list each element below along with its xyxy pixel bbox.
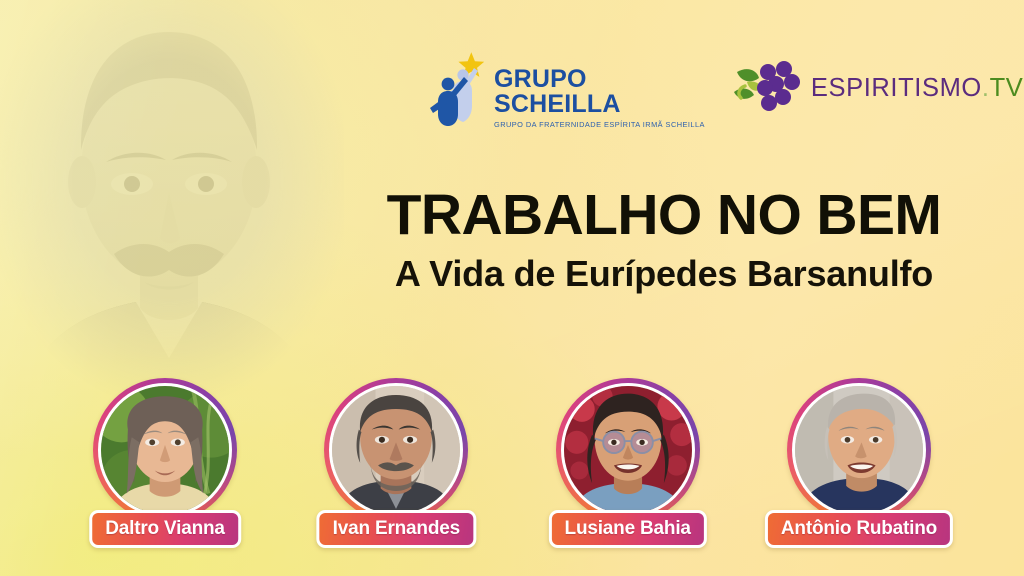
avatar bbox=[98, 383, 232, 517]
scheilla-tagline: GRUPO DA FRATERNIDADE ESPÍRITA IRMÃ SCHE… bbox=[494, 120, 705, 129]
espiritismo-dot: . bbox=[982, 74, 990, 102]
speaker-card[interactable]: Ivan Ernandes bbox=[287, 378, 505, 558]
grape-cluster-icon bbox=[731, 58, 803, 121]
page-title: TRABALHO NO BEM bbox=[330, 186, 998, 244]
title-block: TRABALHO NO BEM A Vida de Eurípedes Bars… bbox=[330, 186, 998, 293]
avatar bbox=[329, 383, 463, 517]
page-subtitle: A Vida de Eurípedes Barsanulfo bbox=[330, 255, 998, 293]
avatar-ring bbox=[324, 378, 468, 522]
speaker-name: Antônio Rubatino bbox=[768, 513, 950, 545]
speaker-row: Daltro Vianna bbox=[56, 378, 968, 558]
poster-canvas: GRUPO SCHEILLA GRUPO DA FRATERNIDADE ESP… bbox=[0, 0, 1024, 576]
scheilla-wordmark: GRUPO SCHEILLA GRUPO DA FRATERNIDADE ESP… bbox=[494, 67, 705, 131]
speaker-name-badge: Lusiane Bahia bbox=[549, 510, 707, 548]
espiritismo-wordmark: ESPIRITISMO.TV bbox=[811, 76, 1023, 102]
watermark-portrait-euripedes-barsanulfo bbox=[0, 0, 344, 406]
avatar bbox=[561, 383, 695, 517]
speaker-card[interactable]: Daltro Vianna bbox=[56, 378, 274, 558]
speaker-name-badge: Antônio Rubatino bbox=[765, 510, 953, 548]
avatar-ring bbox=[787, 378, 931, 522]
logo-grupo-scheilla[interactable]: GRUPO SCHEILLA GRUPO DA FRATERNIDADE ESP… bbox=[430, 48, 705, 131]
avatar-ring bbox=[93, 378, 237, 522]
speaker-name-badge: Ivan Ernandes bbox=[317, 510, 476, 548]
scheilla-name: GRUPO SCHEILLA bbox=[494, 65, 621, 118]
espiritismo-name: ESPIRITISMO bbox=[811, 74, 982, 102]
espiritismo-tld: TV bbox=[990, 74, 1024, 102]
speaker-card[interactable]: Lusiane Bahia bbox=[519, 378, 737, 558]
avatar-ring bbox=[556, 378, 700, 522]
logo-row: GRUPO SCHEILLA GRUPO DA FRATERNIDADE ESP… bbox=[430, 36, 900, 142]
speaker-card[interactable]: Antônio Rubatino bbox=[750, 378, 968, 558]
two-figures-reaching-star-icon bbox=[430, 48, 492, 131]
logo-espiritismo-tv[interactable]: ESPIRITISMO.TV bbox=[731, 58, 1023, 121]
speaker-name: Ivan Ernandes bbox=[320, 513, 473, 545]
speaker-name: Lusiane Bahia bbox=[552, 513, 704, 545]
speaker-name: Daltro Vianna bbox=[92, 513, 238, 545]
avatar bbox=[792, 383, 926, 517]
speaker-name-badge: Daltro Vianna bbox=[89, 510, 241, 548]
